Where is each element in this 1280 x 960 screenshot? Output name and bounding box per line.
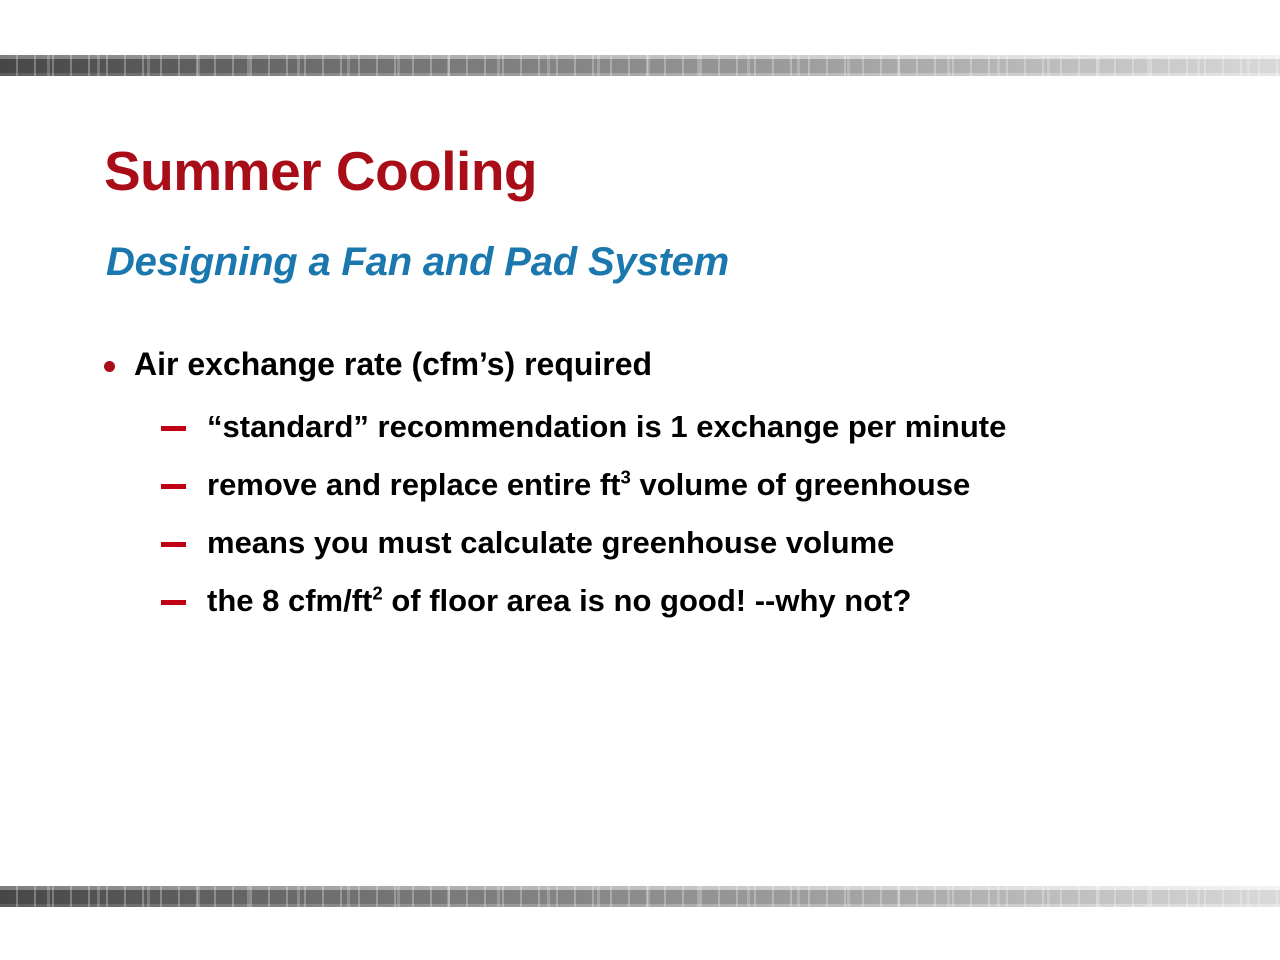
list-item: Air exchange rate (cfm’s) required [104, 344, 1214, 384]
bar-highlight [0, 886, 1280, 890]
bullet-text: Air exchange rate (cfm’s) required [134, 344, 1214, 384]
superscript-exponent: 3 [621, 467, 631, 488]
top-decorative-bar [0, 55, 1280, 76]
dash-bullet-icon [161, 402, 207, 431]
slide-title: Summer Cooling [104, 140, 537, 202]
dash-bullet-icon [161, 576, 207, 605]
bullet-text: means you must calculate greenhouse volu… [207, 518, 1192, 567]
slide-canvas: Summer Cooling Designing a Fan and Pad S… [0, 0, 1280, 960]
bullet-text-pre: remove and replace entire ft [207, 467, 621, 502]
bullet-text: remove and replace entire ft3 volume of … [207, 460, 1192, 509]
bullet-text-post: of floor area is no good! --why not? [383, 583, 912, 618]
bottom-decorative-bar [0, 886, 1280, 907]
bar-underline [0, 904, 1280, 907]
round-bullet-icon [104, 344, 134, 372]
dash-bullet-icon [161, 460, 207, 489]
bar-highlight [0, 55, 1280, 59]
list-item: “standard” recommendation is 1 exchange … [161, 402, 1214, 451]
slide-subtitle: Designing a Fan and Pad System [106, 238, 729, 286]
bar-underline [0, 73, 1280, 76]
superscript-exponent: 2 [372, 583, 382, 604]
bullet-text-post: volume of greenhouse [631, 467, 970, 502]
bullet-text: “standard” recommendation is 1 exchange … [207, 402, 1192, 451]
dash-bullet-icon [161, 518, 207, 547]
slide-body-list: Air exchange rate (cfm’s) required “stan… [104, 344, 1214, 634]
bullet-text: the 8 cfm/ft2 of floor area is no good! … [207, 576, 1192, 625]
list-item: means you must calculate greenhouse volu… [161, 518, 1214, 567]
bullet-text-pre: the 8 cfm/ft [207, 583, 372, 618]
list-item: the 8 cfm/ft2 of floor area is no good! … [161, 576, 1214, 625]
list-item: remove and replace entire ft3 volume of … [161, 460, 1214, 509]
